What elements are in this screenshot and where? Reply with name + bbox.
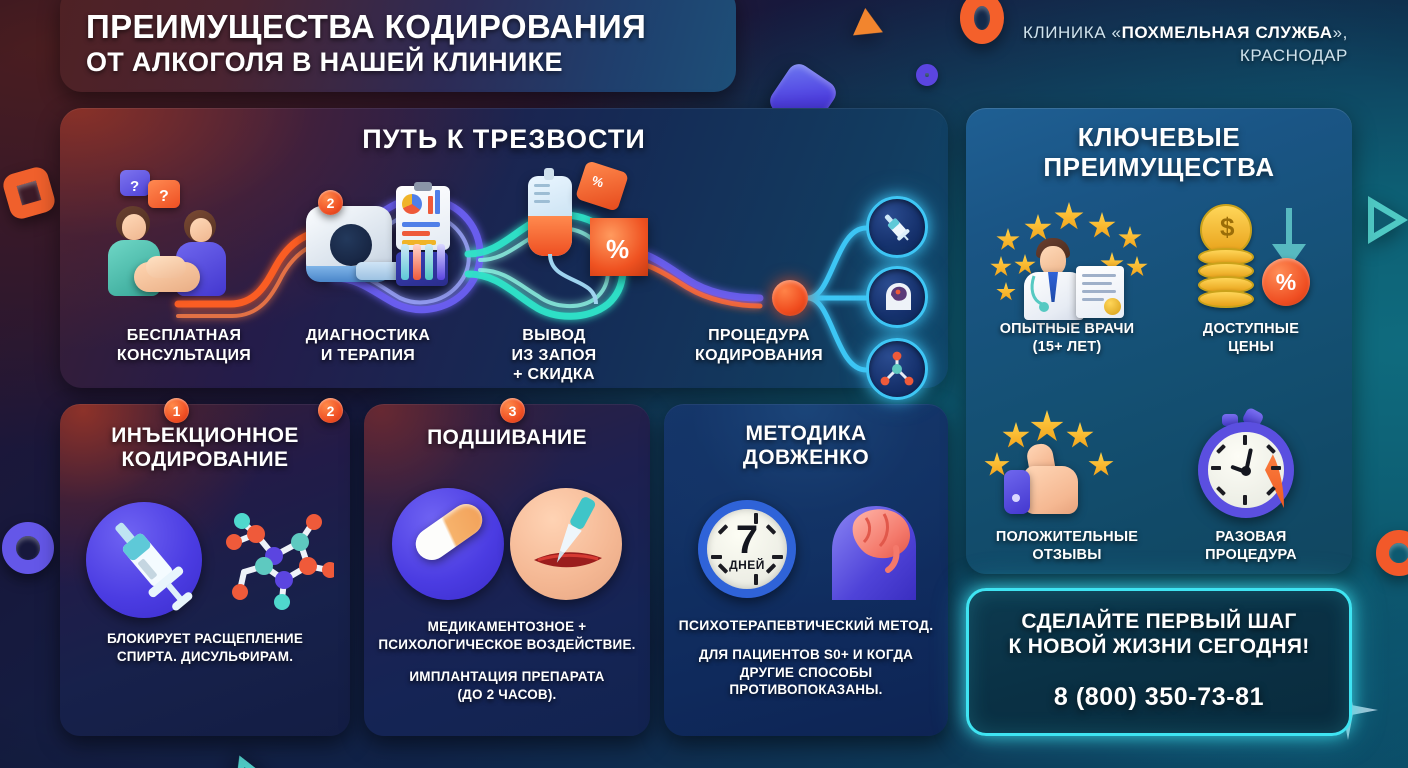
step-badge-2-top: 2 xyxy=(318,190,343,215)
clock-unit: ДНЕЙ xyxy=(729,558,765,572)
molecule-icon[interactable] xyxy=(866,338,928,400)
step-badge-2: 2 xyxy=(318,398,343,423)
benefits-panel: КЛЮЧЕВЫЕПРЕИМУЩЕСТВА xyxy=(966,108,1352,574)
head-brain-icon[interactable] xyxy=(866,266,928,328)
triangle-teal-right-icon xyxy=(1368,196,1408,244)
method-body-line: ПСИХОЛОГИЧЕСКОЕ ВОЗДЕЙСТВИЕ. xyxy=(372,636,642,654)
benefit-caption: ПОЛОЖИТЕЛЬНЫЕОТЗЫВЫ xyxy=(978,528,1156,564)
ring-purple-small-icon xyxy=(916,64,938,86)
step-badge-1: 1 xyxy=(164,398,189,423)
benefit-item-prices: $ % ДОСТУПНЫЕЦЕНЫ xyxy=(1162,200,1340,356)
iv-drip-icon: % % xyxy=(494,160,674,310)
infographic-canvas: ПРЕИМУЩЕСТВА КОДИРОВАНИЯ ОТ АЛКОГОЛЯ В Н… xyxy=(0,0,1408,768)
method-body-line: СПИРТА. ДИСУЛЬФИРАМ. xyxy=(68,648,342,666)
coins-discount-icon: $ % xyxy=(1162,200,1340,320)
method-card-title: ИНЪЕКЦИОННОЕКОДИРОВАНИЕ xyxy=(60,424,350,473)
head-brain-icon xyxy=(810,492,928,604)
page-title-panel: ПРЕИМУЩЕСТВА КОДИРОВАНИЯ ОТ АЛКОГОЛЯ В Н… xyxy=(60,0,736,92)
clinic-prefix: КЛИНИКА « xyxy=(1023,23,1122,42)
method-card-title: ПОДШИВАНИЕ xyxy=(364,426,650,450)
journey-panel: ПУТЬ К ТРЕЗВОСТИ xyxy=(60,108,948,388)
stopwatch-icon xyxy=(1162,408,1340,528)
benefits-title: КЛЮЧЕВЫЕПРЕИМУЩЕСТВА xyxy=(966,122,1352,182)
method-body2-line: ПРОТИВОПОКАЗАНЫ. xyxy=(672,681,940,699)
ring-purple-icon xyxy=(2,522,54,574)
method-card-injection: ИНЪЕКЦИОННОЕКОДИРОВАНИЕ xyxy=(60,404,350,736)
page-title-line2: ОТ АЛКОГОЛЯ В НАШЕЙ КЛИНИКЕ xyxy=(86,47,736,78)
cta-panel[interactable]: СДЕЛАЙТЕ ПЕРВЫЙ ШАГ К НОВОЙ ЖИЗНИ СЕГОДН… xyxy=(966,588,1352,736)
handshake-icon: ? ? xyxy=(106,170,256,305)
method-body-line: БЛОКИРУЕТ РАСЩЕПЛЕНИЕ xyxy=(68,630,342,648)
method-body2-line: (ДО 2 ЧАСОВ). xyxy=(372,686,642,704)
method-body2-line: ДРУГИЕ СПОСОБЫ xyxy=(672,664,940,682)
cta-line1: СДЕЛАЙТЕ ПЕРВЫЙ ШАГ xyxy=(1021,609,1296,634)
clinic-name: КЛИНИКА «ПОХМЕЛЬНАЯ СЛУЖБА», КРАСНОДАР xyxy=(1018,22,1348,68)
molecule-icon xyxy=(212,508,334,620)
method-body2-line: ДЛЯ ПАЦИЕНТОВ S0+ И КОГДА xyxy=(672,646,940,664)
page-title-line1: ПРЕИМУЩЕСТВА КОДИРОВАНИЯ xyxy=(86,8,736,46)
thumbs-up-stars-icon xyxy=(978,408,1156,528)
benefit-caption: ОПЫТНЫЕ ВРАЧИ(15+ ЛЕТ) xyxy=(978,320,1156,356)
benefit-caption: ДОСТУПНЫЕЦЕНЫ xyxy=(1162,320,1340,356)
benefit-item-single-procedure: РАЗОВАЯПРОЦЕДУРА xyxy=(1162,408,1340,564)
benefit-item-doctors: ОПЫТНЫЕ ВРАЧИ(15+ ЛЕТ) xyxy=(978,200,1156,356)
clock-number: 7 xyxy=(736,522,758,558)
method-body2-line: ИМПЛАНТАЦИЯ ПРЕПАРАТА xyxy=(372,668,642,686)
clock-7-days-icon: 7 ДНЕЙ xyxy=(698,500,796,598)
benefit-caption: РАЗОВАЯПРОЦЕДУРА xyxy=(1162,528,1340,564)
discount-badge: % xyxy=(1262,258,1310,306)
benefit-item-reviews: ПОЛОЖИТЕЛЬНЫЕОТЗЫВЫ xyxy=(978,408,1156,564)
discount-percent-label: % xyxy=(606,234,629,265)
clinic-brand: ПОХМЕЛЬНАЯ СЛУЖБА xyxy=(1122,23,1333,42)
incision-illustration xyxy=(510,488,622,600)
step-badge-3: 3 xyxy=(500,398,525,423)
method-body-line: ПСИХОТЕРАПЕВТИЧЕСКИЙ МЕТОД. xyxy=(672,616,940,634)
method-body-line: МЕДИКАМЕНТОЗНОЕ + xyxy=(372,618,642,636)
coding-hub-icon xyxy=(772,280,808,316)
method-card-title: МЕТОДИКАДОВЖЕНКО xyxy=(664,422,948,471)
cta-phone-number[interactable]: 8 (800) 350-73-81 xyxy=(1054,683,1264,712)
method-card-implant: ПОДШИВАНИЕ МЕДИКАМЕНТОЗНОЕ + ПСИХОЛОГИЧЕ… xyxy=(364,404,650,736)
syringe-illustration xyxy=(86,496,216,626)
syringe-icon[interactable] xyxy=(866,196,928,258)
method-card-dovzhenko: МЕТОДИКАДОВЖЕНКО 7 ДНЕЙ xyxy=(664,404,948,736)
doctor-stars-icon xyxy=(978,200,1156,320)
cta-line2: К НОВОЙ ЖИЗНИ СЕГОДНЯ! xyxy=(1008,634,1309,659)
